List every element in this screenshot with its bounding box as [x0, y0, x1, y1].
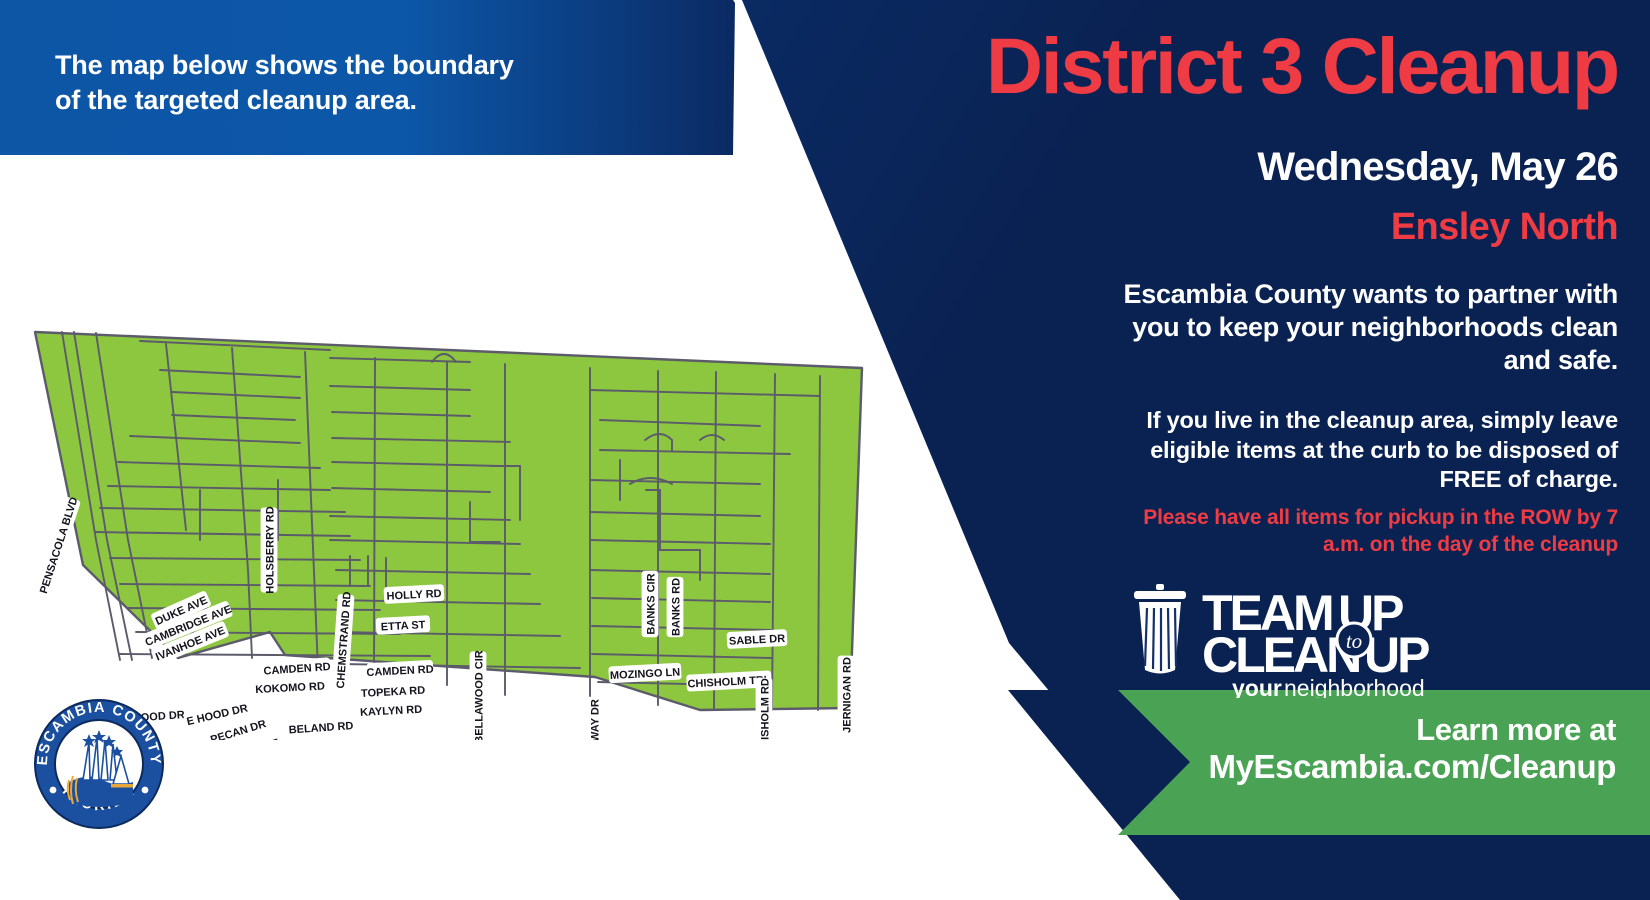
- map-street-label: KOKOMO RD: [255, 678, 325, 697]
- map-street-label: HOLLY RD: [384, 585, 443, 603]
- logo-tagline-your: your: [1232, 675, 1282, 698]
- cleanup-boundary-map[interactable]: PENSACOLA BLVDHOLSBERRY RDDUKE AVECAMBRI…: [0, 240, 900, 740]
- map-street-label: KAYLYN RD: [358, 701, 424, 720]
- learn-more-url[interactable]: MyEscambia.com/Cleanup: [1056, 748, 1616, 786]
- learn-more-ribbon[interactable]: Learn more at MyEscambia.com/Cleanup: [1056, 712, 1616, 786]
- map-label-text: BANKS RD: [670, 578, 682, 636]
- seal-dot-left: [50, 787, 57, 794]
- map-street-label: BANKS RD: [667, 578, 682, 637]
- event-area-name: Ensley North: [838, 208, 1618, 248]
- team-up-to-clean-up-logo: TEAM UP CLEAN UP to your neighborhood: [1120, 578, 1540, 698]
- body-paragraph-1: Escambia County wants to partner with yo…: [1118, 278, 1618, 377]
- map-label-text: HOLSBERRY RD: [264, 506, 276, 593]
- map-label-text: PENSACOLA BLVD: [38, 496, 81, 596]
- map-street-label: SABLE DR: [727, 630, 786, 648]
- trash-can-icon: [1134, 584, 1186, 674]
- page-title: District 3 Cleanup: [838, 28, 1618, 104]
- body-paragraph-3: Please have all items for pickup in the …: [1118, 505, 1618, 559]
- map-street-label: MOZINGO LN: [609, 664, 681, 683]
- logo-to: to: [1346, 629, 1362, 653]
- map-street-label: BANKS CIR: [642, 572, 657, 637]
- flyer-canvas: The map below shows the boundary of the …: [0, 0, 1650, 900]
- map-street-label: CHISHOLM RD: [756, 678, 771, 740]
- map-label-text: ETTA ST: [380, 619, 425, 633]
- map-label-text: AIRWAY DR: [589, 699, 601, 740]
- map-street-label: AIRWAY DR: [586, 698, 601, 740]
- map-street-label: TOPEKA RD: [360, 682, 426, 701]
- escambia-county-seal: ESCAMBIA COUNTY FLORIDA: [33, 698, 165, 830]
- intro-line-2: of the targeted cleanup area.: [55, 83, 615, 118]
- map-street-label: HOLSBERRY RD: [261, 506, 276, 593]
- logo-tagline-neighborhood: neighborhood: [1284, 675, 1425, 698]
- map-label-text: JERNIGAN RD: [841, 657, 853, 733]
- map-street-label: PENSACOLA BLVD: [35, 495, 81, 596]
- map-label-text: BANKS CIR: [645, 573, 657, 634]
- map-street-label: CAMDEN RD: [263, 658, 331, 678]
- learn-more-label: Learn more at: [1056, 712, 1616, 748]
- body-paragraph-2: If you live in the cleanup area, simply …: [1118, 406, 1618, 495]
- event-date: Wednesday, May 26: [838, 146, 1618, 188]
- intro-text: The map below shows the boundary of the …: [55, 48, 615, 118]
- map-label-text: CHISHOLM RD: [759, 678, 771, 740]
- map-street-label: ETTA ST: [376, 616, 429, 634]
- map-street-label: BELAND RD: [288, 717, 354, 737]
- map-street-label: CAMDEN RD: [366, 661, 434, 680]
- map-street-label: JERNIGAN RD: [838, 656, 853, 733]
- intro-line-1: The map below shows the boundary: [55, 48, 615, 83]
- seal-dot-right: [142, 787, 149, 794]
- map-street-label: BELLAWOOD CIR: [470, 650, 485, 740]
- map-label-text: BELLAWOOD CIR: [473, 650, 485, 740]
